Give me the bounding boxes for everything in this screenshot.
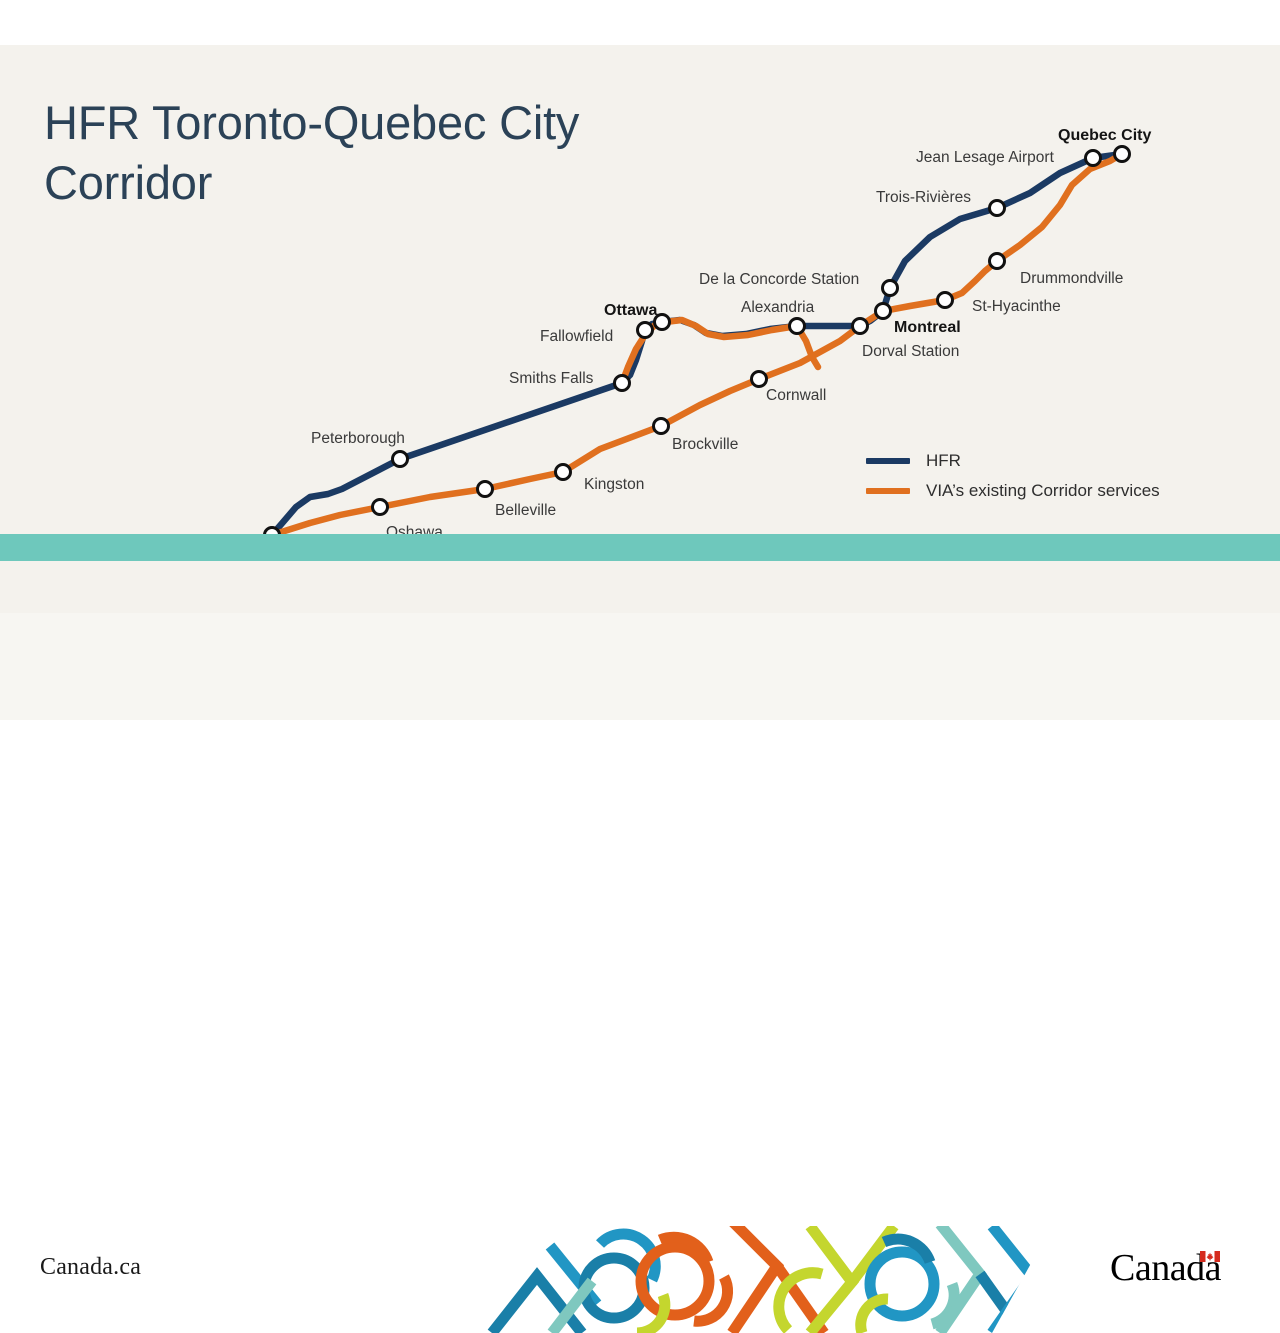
station-dot[interactable]: [638, 323, 653, 338]
station-dot[interactable]: [556, 465, 571, 480]
station-label: De la Concorde Station: [699, 271, 859, 289]
page-title-line-1: HFR Toronto-Quebec City: [44, 93, 804, 153]
station-label: Cornwall: [766, 387, 826, 405]
footer-bar: Canada.ca: [0, 613, 1280, 720]
station-label: Drummondville: [1020, 270, 1123, 288]
canada-ca-link[interactable]: Canada.ca: [40, 1254, 141, 1281]
station-label: St-Hyacinthe: [972, 298, 1061, 316]
station-dot[interactable]: [990, 254, 1005, 269]
legend-item: VIA’s existing Corridor services: [866, 476, 1160, 506]
fip-decorative-pattern: [432, 1226, 1052, 1333]
station-label: Dorval Station: [862, 343, 959, 361]
station-label: Quebec City: [1058, 127, 1151, 145]
station-dot[interactable]: [654, 419, 669, 434]
station-dot[interactable]: [1115, 147, 1130, 162]
lower-cream-band: [0, 561, 1280, 613]
station-dot[interactable]: [790, 319, 805, 334]
map-legend: HFRVIA’s existing Corridor services: [866, 446, 1160, 506]
legend-item: HFR: [866, 446, 1160, 476]
station-dot[interactable]: [752, 372, 767, 387]
legend-color-swatch: [866, 488, 910, 494]
slide-canvas: TorontoPeterboroughOshawaBellevilleKings…: [0, 0, 1280, 720]
legend-color-swatch: [866, 458, 910, 464]
station-dot[interactable]: [478, 482, 493, 497]
station-dot[interactable]: [1086, 151, 1101, 166]
station-dot[interactable]: [373, 500, 388, 515]
station-label: Smiths Falls: [509, 370, 593, 388]
station-label: Kingston: [584, 476, 644, 494]
station-dot[interactable]: [990, 201, 1005, 216]
teal-divider-band: [0, 534, 1280, 561]
station-dot[interactable]: [393, 452, 408, 467]
legend-label: HFR: [926, 451, 961, 471]
station-label: Brockville: [672, 436, 738, 454]
station-label: Alexandria: [741, 299, 814, 317]
station-label: Fallowfield: [540, 328, 613, 346]
station-dot[interactable]: [876, 304, 891, 319]
canada-flag-icon: [1200, 1251, 1220, 1262]
station-dot[interactable]: [615, 376, 630, 391]
station-dot[interactable]: [853, 319, 868, 334]
station-label: Montreal: [894, 319, 961, 337]
station-label: Belleville: [495, 502, 556, 520]
fip-pattern-svg: [432, 1226, 1052, 1333]
station-label: Trois-Rivières: [876, 189, 971, 207]
station-label: Jean Lesage Airport: [916, 149, 1054, 167]
legend-label: VIA’s existing Corridor services: [926, 481, 1160, 501]
station-dot[interactable]: [938, 293, 953, 308]
page-title-line-2: Corridor: [44, 153, 804, 213]
station-label: Ottawa: [604, 302, 657, 320]
page-title: HFR Toronto-Quebec City Corridor: [44, 93, 804, 213]
station-label: Peterborough: [311, 430, 405, 448]
station-dot[interactable]: [883, 281, 898, 296]
